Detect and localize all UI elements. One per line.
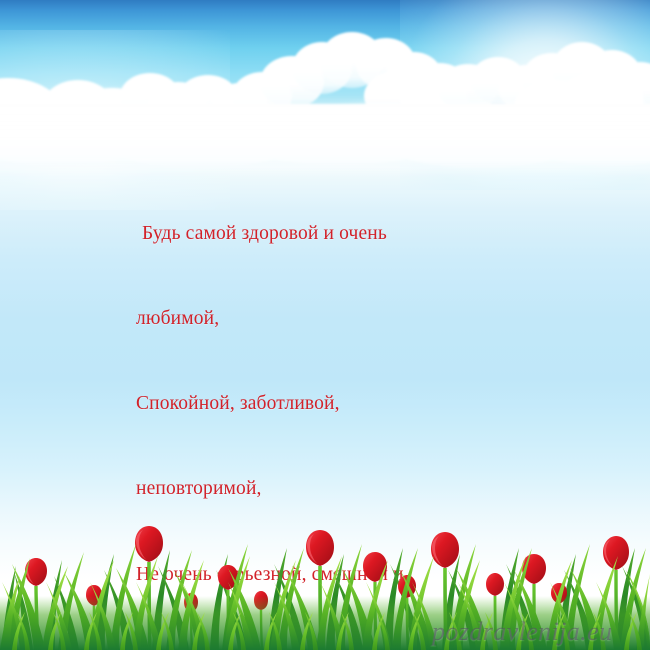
poem-line: Будь самой здоровой и очень: [136, 220, 496, 248]
poem-line: неповторимой,: [136, 475, 496, 503]
poem-line: Не очень серьезной, смешной и: [136, 561, 496, 589]
poem-line: веселой,: [136, 646, 496, 650]
greeting-poem: Будь самой здоровой и очень любимой, Спо…: [136, 163, 496, 650]
greeting-card: Будь самой здоровой и очень любимой, Спо…: [0, 0, 650, 650]
poem-line: Спокойной, заботливой,: [136, 390, 496, 418]
poem-line: любимой,: [136, 305, 496, 333]
